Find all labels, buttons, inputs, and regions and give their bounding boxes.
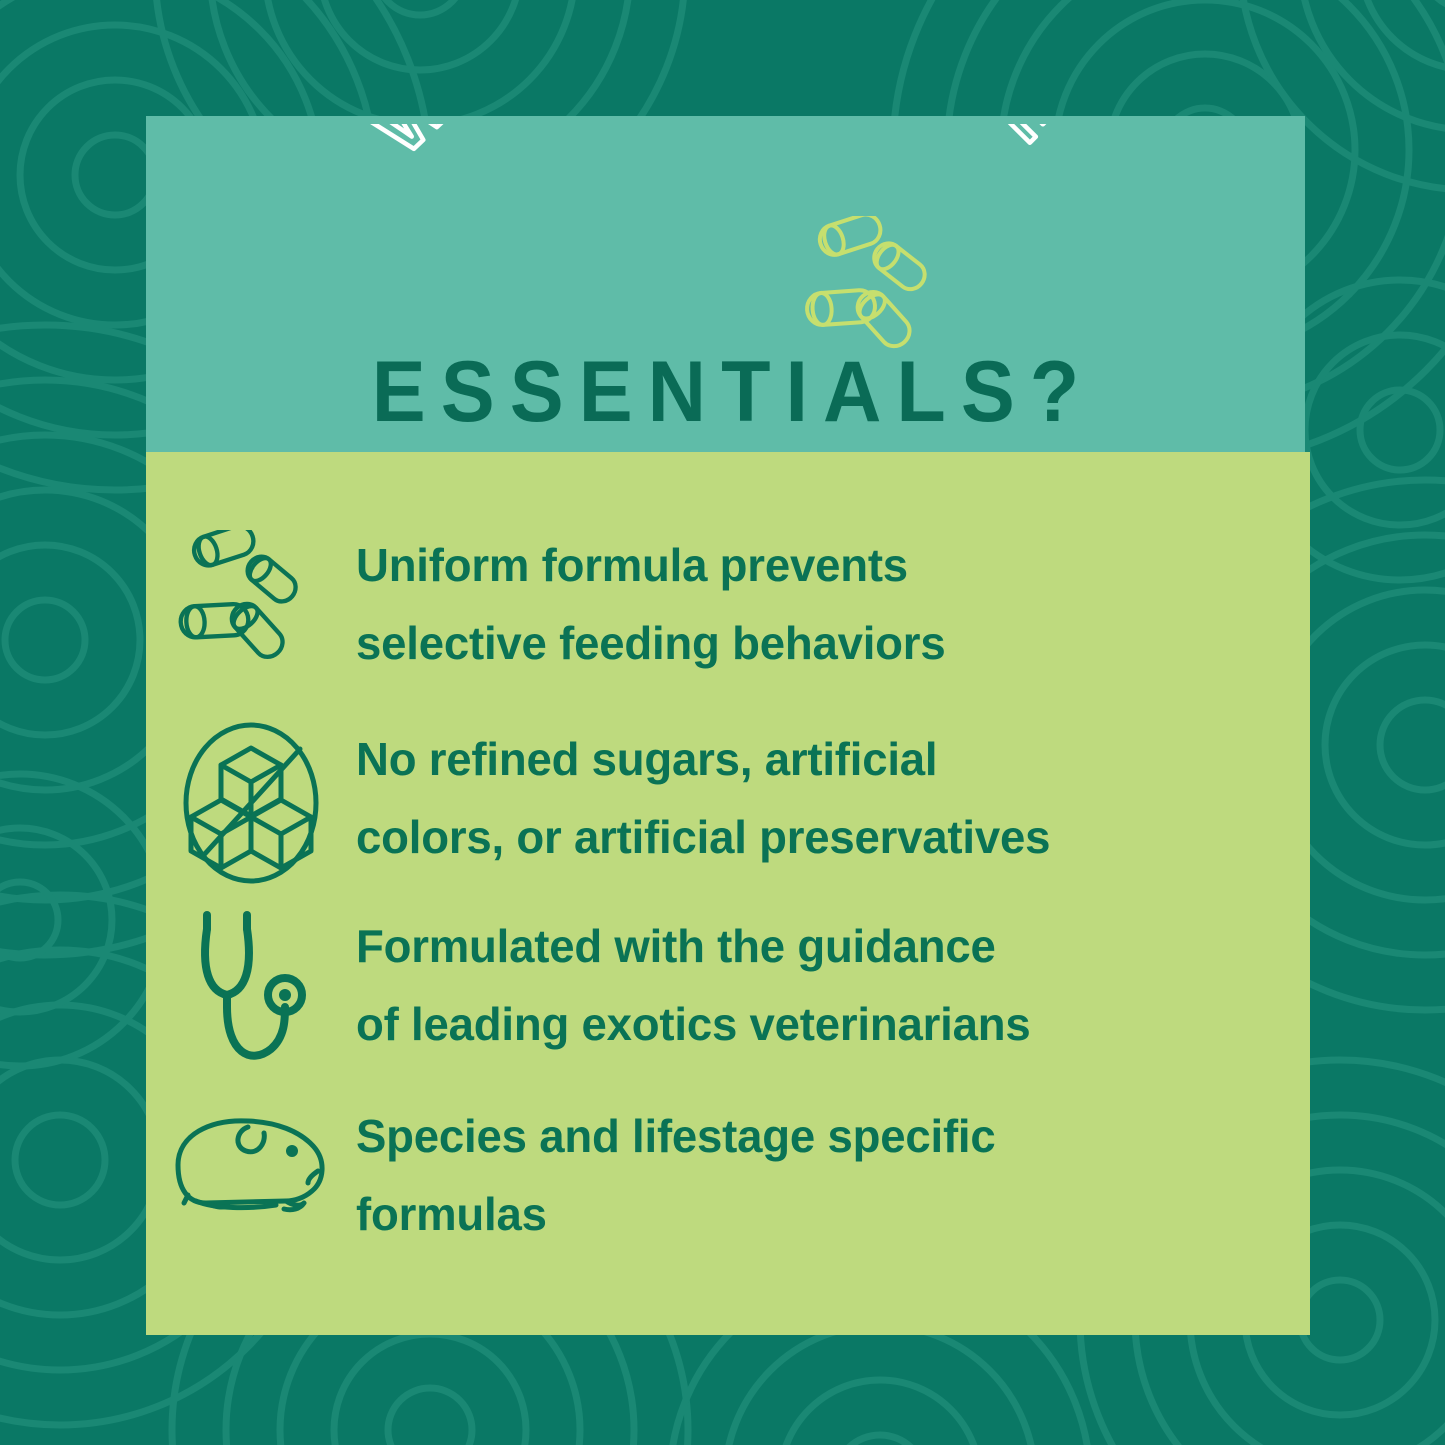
- features-panel: Uniform formula prevents selective feedi…: [146, 452, 1310, 1335]
- feature-line: formulas: [356, 1175, 1291, 1253]
- page-title: ESSENTIALS?: [181, 344, 1270, 440]
- svg-text:WHY CHOOSE: WHY CHOOSE: [357, 124, 1094, 171]
- feature-icon-slot: [146, 526, 356, 670]
- infographic-canvas: WHY CHOOSE: [0, 0, 1445, 1445]
- feature-line: selective feeding behaviors: [356, 604, 1291, 682]
- list-item: No refined sugars, artificial colors, or…: [146, 720, 1310, 910]
- arc-title-why-choose: WHY CHOOSE: [146, 124, 1305, 339]
- feature-line: colors, or artificial preservatives: [356, 798, 1291, 876]
- feature-line: Uniform formula prevents: [356, 526, 1291, 604]
- feature-text: No refined sugars, artificial colors, or…: [356, 720, 1300, 876]
- feature-line: No refined sugars, artificial: [356, 720, 1291, 798]
- pellet-kibble-icon: [173, 530, 329, 670]
- header-panel: WHY CHOOSE: [146, 116, 1305, 452]
- arc-title-textpath: WHY CHOOSE: [357, 124, 1094, 171]
- stethoscope-icon: [185, 907, 317, 1077]
- list-item: Uniform formula prevents selective feedi…: [146, 526, 1310, 716]
- feature-line: Species and lifestage specific: [356, 1097, 1291, 1175]
- feature-text: Species and lifestage specific formulas …: [356, 1097, 1300, 1253]
- no-sugar-cubes-icon: [176, 720, 326, 886]
- feature-line: Formulated with the guidance: [356, 907, 1291, 985]
- feature-line: of leading exotics veterinarians: [356, 985, 1291, 1063]
- feature-icon-slot: [146, 907, 356, 1077]
- feature-icon-slot: [146, 1097, 356, 1225]
- list-item: Species and lifestage specific formulas …: [146, 1097, 1310, 1277]
- feature-list: Uniform formula prevents selective feedi…: [146, 452, 1310, 1335]
- pellet-kibble-icon: [788, 216, 968, 356]
- feature-text: Uniform formula prevents selective feedi…: [356, 526, 1300, 682]
- guinea-pig-icon: [166, 1109, 336, 1225]
- feature-text: Formulated with the guidance of leading …: [356, 907, 1300, 1063]
- list-item: Formulated with the guidance of leading …: [146, 907, 1310, 1097]
- feature-icon-slot: [146, 720, 356, 886]
